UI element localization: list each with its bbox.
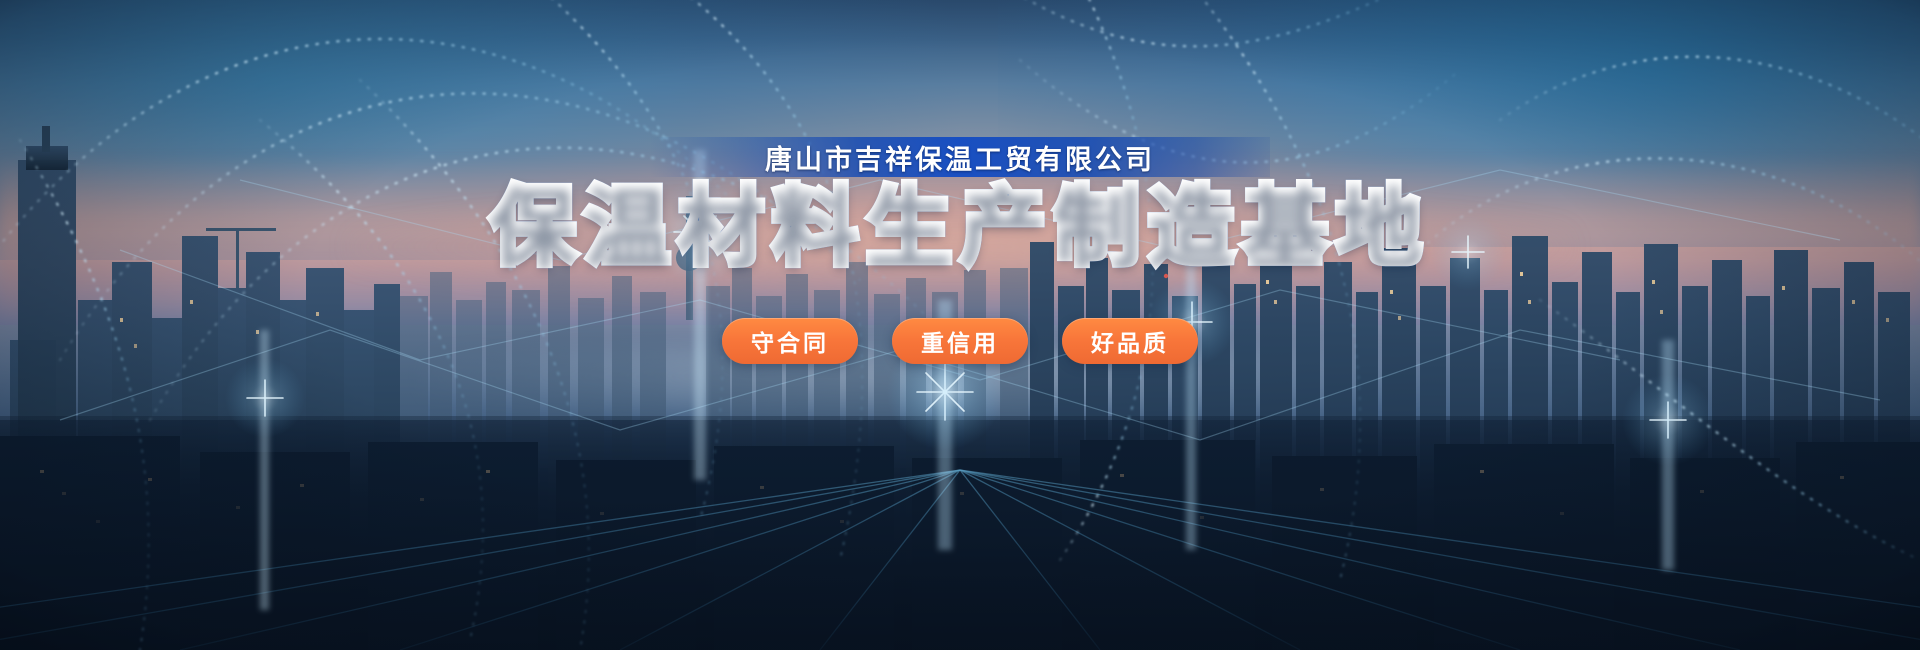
headline-text: 保温材料生产制造基地 [490,179,1430,275]
pill-label: 重信用 [921,324,999,358]
page-title: 保温材料生产制造基地 [490,182,1430,273]
pill-shou-he-tong[interactable]: 守合同 [722,318,858,364]
company-name-band: 唐山市吉祥保温工贸有限公司 [650,137,1270,177]
company-name-text: 唐山市吉祥保温工贸有限公司 [765,138,1155,177]
pill-zhong-xin-yong[interactable]: 重信用 [892,318,1028,364]
hero-banner: 唐山市吉祥保温工贸有限公司 保温材料生产制造基地 守合同 重信用 好品质 [0,0,1920,650]
pill-hao-pin-zhi[interactable]: 好品质 [1062,318,1198,364]
foreground-city-overlay [0,416,1920,650]
feature-pill-group: 守合同 重信用 好品质 [722,318,1198,364]
pill-label: 好品质 [1091,324,1169,358]
pill-label: 守合同 [751,324,829,358]
